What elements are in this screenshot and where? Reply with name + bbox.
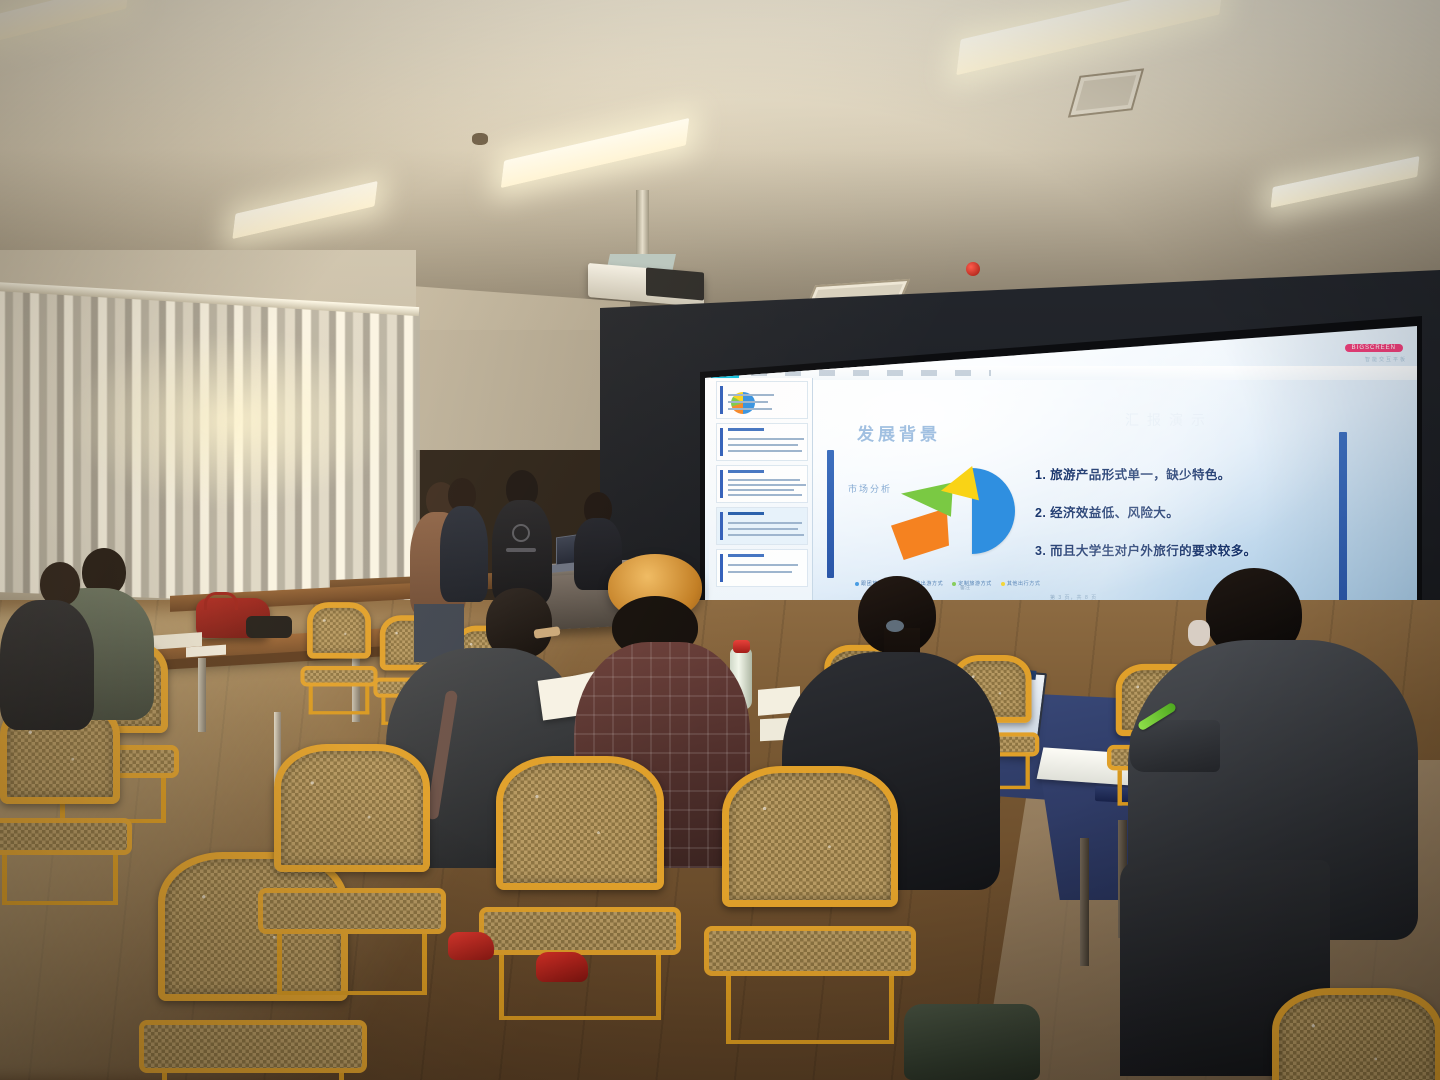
smoke-detector-icon xyxy=(472,133,488,145)
display-brand-subtitle: 智能交互平板 xyxy=(1365,356,1407,363)
slide-thumbnail[interactable] xyxy=(716,507,808,545)
projector-pole xyxy=(636,190,649,262)
slide-bullet-list: 1. 旅游产品形式单一，缺少特色。 2. 经济效益低、风险大。 3. 而且大学生… xyxy=(1035,464,1335,578)
bullet-item: 3. 而且大学生对户外旅行的要求较多。 xyxy=(1035,540,1335,559)
slide-thumbnail[interactable] xyxy=(716,423,808,461)
chair[interactable] xyxy=(274,744,430,950)
slide-thumbnail[interactable] xyxy=(716,381,808,419)
slide-thumbnail-pane[interactable] xyxy=(709,378,813,616)
dark-bag xyxy=(246,616,292,638)
backpack xyxy=(904,1004,1040,1080)
slide-accent-bar-left xyxy=(827,450,834,578)
curtain-daylight-glow xyxy=(60,330,400,510)
slide-thumbnail[interactable] xyxy=(716,549,808,587)
slide-notes-label: 备注 xyxy=(960,584,970,591)
alarm-light-icon xyxy=(966,262,980,276)
hoodie-logo-icon xyxy=(512,524,530,542)
pie-slice-green xyxy=(901,480,953,520)
chair[interactable] xyxy=(496,756,664,972)
bullet-item: 2. 经济效益低、风险大。 xyxy=(1035,502,1335,521)
projector-lens-housing xyxy=(646,267,704,300)
chair[interactable] xyxy=(307,602,371,694)
table-leg xyxy=(198,658,206,732)
slide-thumbnail[interactable] xyxy=(716,465,808,503)
display-brand-badge: BIGSCREEN xyxy=(1345,344,1403,352)
pie-chart xyxy=(885,450,1013,570)
chair[interactable] xyxy=(722,766,898,994)
red-shoe xyxy=(536,952,588,982)
slide-title: 发展背景 xyxy=(857,420,941,445)
table-leg xyxy=(1080,838,1089,966)
pie-slice-orange xyxy=(891,508,949,560)
photo-scene: 汇报演示 发展背景 市场分析 跟团旅游方式 自助出游方式 定制旅游方式 其他出行… xyxy=(0,0,1440,1080)
hoodie-text xyxy=(506,548,536,552)
chair[interactable] xyxy=(1272,988,1440,1080)
legend-label: 其他出行方式 xyxy=(1007,581,1041,587)
slide-accent-bar-right xyxy=(1339,432,1347,604)
red-shoe xyxy=(448,932,494,960)
bottle-cap xyxy=(733,640,750,653)
hair-tie xyxy=(886,620,904,632)
bullet-item: 1. 旅游产品形式单一，缺少特色。 xyxy=(1035,464,1335,483)
face-side xyxy=(1188,620,1210,646)
slide-watermark: 汇报演示 xyxy=(1125,410,1213,430)
handbag-strap xyxy=(204,592,238,610)
